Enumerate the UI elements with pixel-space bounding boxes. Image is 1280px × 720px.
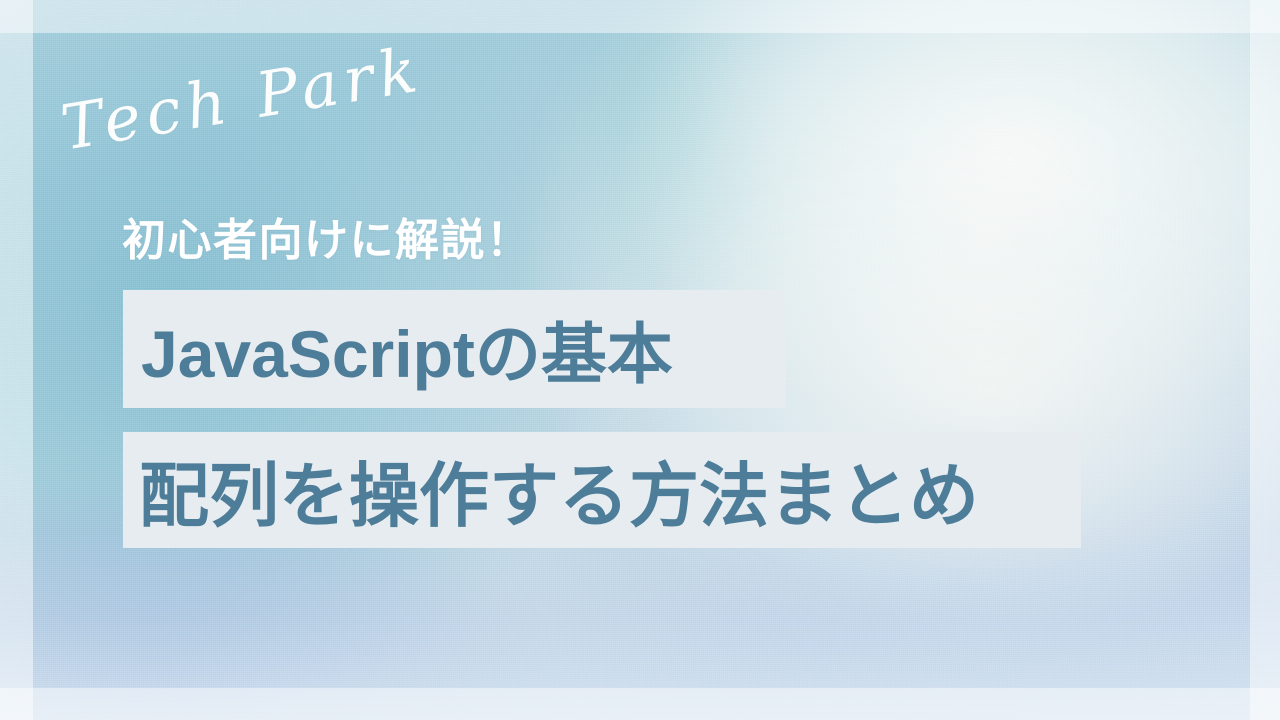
title-line-1-box: JavaScriptの基本: [123, 290, 786, 408]
title-line-2-box: 配列を操作する方法まとめ: [123, 432, 1081, 548]
brand-logo-text: Tech Park: [56, 32, 428, 164]
eyecatch-subtitle: 初心者向けに解説！: [122, 204, 532, 268]
eyecatch-canvas: Tech Park 初心者向けに解説！ JavaScriptの基本 配列を操作す…: [0, 0, 1280, 720]
title-line-1-text: JavaScriptの基本: [141, 301, 673, 397]
content-layer: Tech Park 初心者向けに解説！ JavaScriptの基本 配列を操作す…: [0, 0, 1280, 720]
title-line-2-text: 配列を操作する方法まとめ: [139, 440, 979, 541]
